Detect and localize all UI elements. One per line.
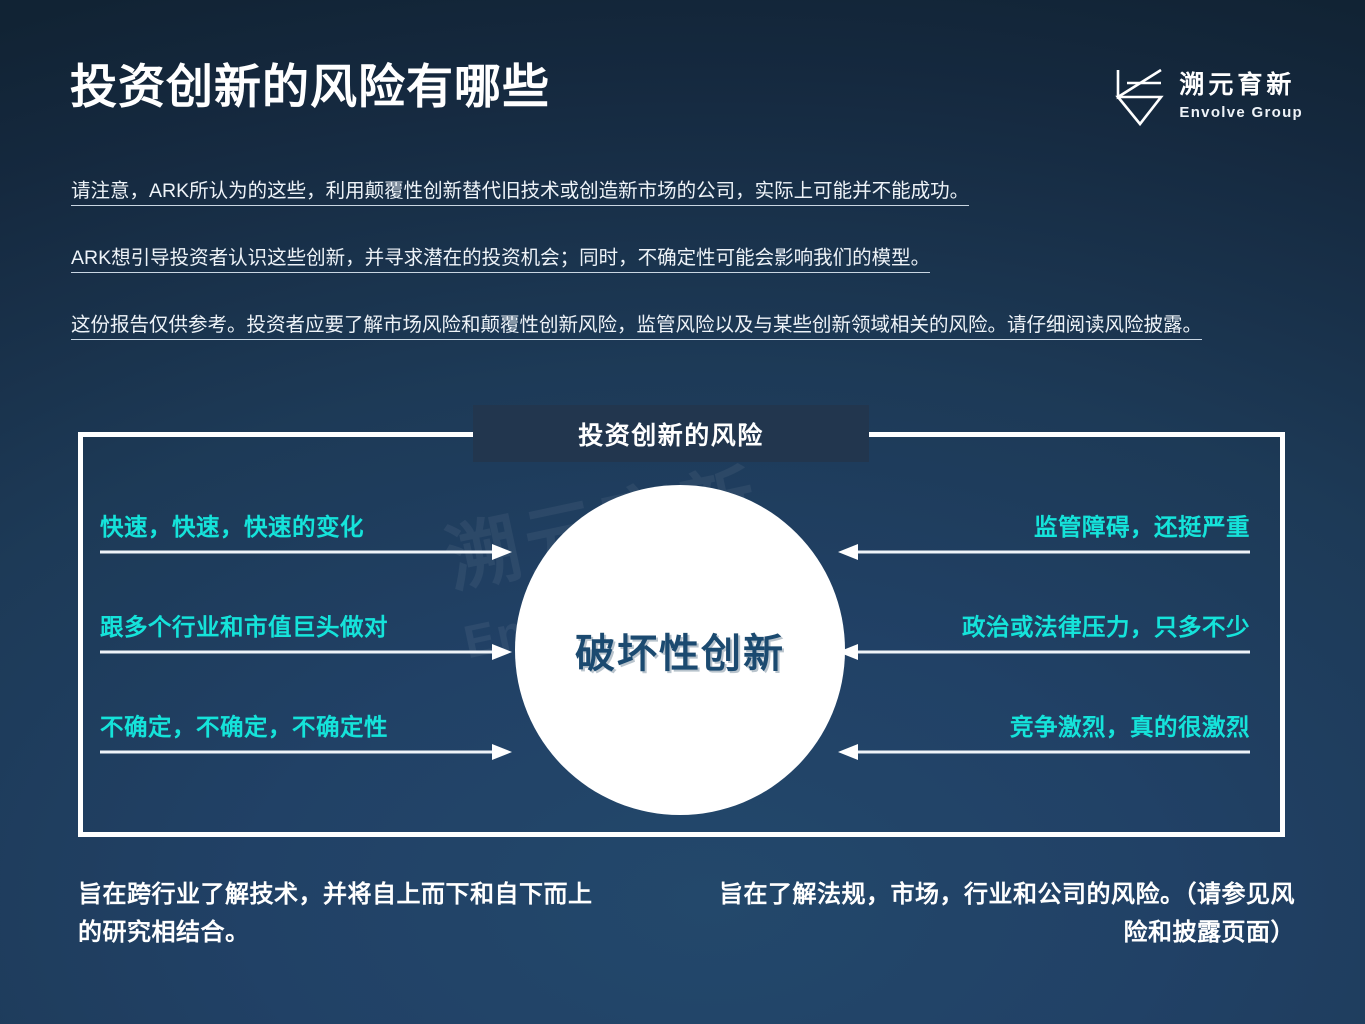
arrow-right-icon [100, 542, 512, 562]
brand-logo: 溯元育新 Envolve Group [1115, 66, 1303, 128]
right-risk-row: 监管障碍，还挺严重 [838, 504, 1250, 562]
left-risk-label: 不确定，不确定，不确定性 [100, 708, 388, 742]
logo-en-name: Envolve Group [1179, 103, 1303, 123]
arrow-right-icon [100, 742, 512, 762]
intro-paragraph-2: ARK想引导投资者认识这些创新，并寻求潜在的投资机会；同时，不确定性可能会影响我… [71, 243, 1231, 274]
left-risk-row: 跟多个行业和市值巨头做对 [100, 604, 512, 662]
arrow-left-icon [838, 642, 1250, 662]
arrow-right-icon [100, 642, 512, 662]
left-risk-label: 快速，快速，快速的变化 [100, 508, 364, 542]
envolve-e-v-mark-icon [1115, 66, 1165, 128]
right-risk-label: 监管障碍，还挺严重 [1034, 508, 1250, 542]
intro-paragraph-3-text: 这份报告仅供参考。投资者应要了解市场风险和颠覆性创新风险，监管风险以及与某些创新… [71, 314, 1202, 340]
arrow-left-icon [838, 742, 1250, 762]
right-risk-label: 竞争激烈，真的很激烈 [1010, 708, 1250, 742]
intro-paragraph-1: 请注意，ARK所认为的这些，利用颠覆性创新替代旧技术或创造新市场的公司，实际上可… [71, 176, 1231, 207]
left-risk-row: 快速，快速，快速的变化 [100, 504, 512, 562]
left-risk-label: 跟多个行业和市值巨头做对 [100, 608, 388, 642]
intro-paragraph-3: 这份报告仅供参考。投资者应要了解市场风险和颠覆性创新风险，监管风险以及与某些创新… [71, 310, 1303, 341]
logo-cn-name: 溯元育新 [1179, 72, 1303, 100]
right-risk-row: 政治或法律压力，只多不少 [838, 604, 1250, 662]
slide-root: 投资创新的风险有哪些 溯元育新 Envolve Group 请注意，ARK所认为… [0, 0, 1365, 1024]
right-risk-column: 监管障碍，还挺严重 政治或法律压力，只多不少 竞争激烈，真的很激烈 [815, 432, 1285, 837]
right-risk-row: 竞争激烈，真的很激烈 [838, 704, 1250, 762]
intro-paragraph-2-text: ARK想引导投资者认识这些创新，并寻求潜在的投资机会；同时，不确定性可能会影响我… [71, 247, 930, 273]
caption-left: 旨在跨行业了解技术，并将自上而下和自下而上的研究相结合。 [78, 876, 598, 952]
page-title: 投资创新的风险有哪些 [70, 60, 550, 114]
arrow-left-icon [838, 542, 1250, 562]
center-circle: 破坏性创新 [515, 485, 845, 815]
left-risk-row: 不确定，不确定，不确定性 [100, 704, 512, 762]
intro-paragraph-1-text: 请注意，ARK所认为的这些，利用颠覆性创新替代旧技术或创造新市场的公司，实际上可… [71, 180, 969, 206]
logo-text: 溯元育新 Envolve Group [1179, 72, 1303, 122]
left-risk-column: 快速，快速，快速的变化 跟多个行业和市值巨头做对 不确定，不确定，不确定性 [78, 432, 548, 837]
right-risk-label: 政治或法律压力，只多不少 [962, 608, 1250, 642]
center-circle-label: 破坏性创新 [575, 621, 785, 679]
caption-right: 旨在了解法规，市场，行业和公司的风险。（请参见风险和披露页面） [715, 876, 1295, 952]
